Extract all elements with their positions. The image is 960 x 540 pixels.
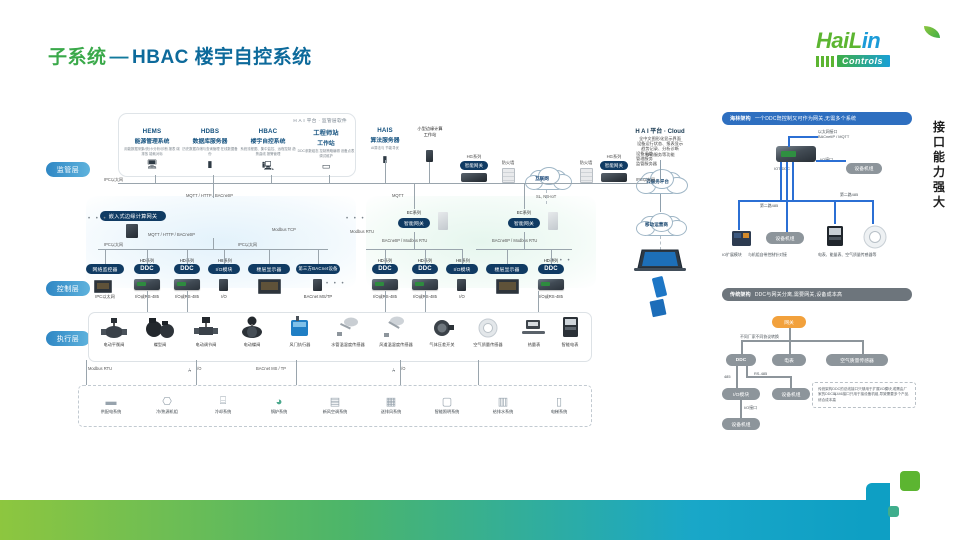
hai-cloud-brand: H A I 平台 · Cloud [612, 126, 708, 135]
legacy-io-port-label: I/O接口 [744, 405, 757, 411]
legacy-meter-node: 电表 [772, 354, 806, 366]
edge-to-bus [213, 238, 214, 249]
cooling-icon: ⌸ [197, 392, 249, 408]
legacy-arch-badge-text: DDC与网关分离,需要网关,设备成本高 [755, 291, 842, 298]
cloud-down-line [660, 194, 661, 212]
ec-left-uplink [414, 183, 415, 209]
ec-left-device [438, 212, 448, 230]
exec-device-8: 空气质量传感器 [466, 316, 510, 348]
title-blue-part: HBAC 楼宇自控系统 [132, 47, 312, 68]
control-node-pill: 第三方BACnet设备 [296, 264, 340, 274]
ops-service-note: 设备运维 管理服务 监管服务器 [636, 152, 676, 166]
hailin-leaf-sensors-label: 电表、能量表、空气质量传感器等 [818, 252, 876, 258]
hailin-logo: HaiLin Controls [816, 30, 932, 76]
control-node-device [258, 279, 281, 294]
control-node-device [219, 279, 228, 291]
edge-uplink [213, 183, 214, 198]
internet-cloud-shape: 互联网 [522, 166, 572, 190]
firewall-left-icon [502, 168, 515, 183]
hailin-wire-trunk-a [780, 162, 782, 200]
exec-device-name: 电动蝶阀 [230, 342, 274, 348]
hailin-leaf-equipment: 设备机组 [766, 232, 804, 244]
boiler-icon: ◕ [253, 392, 305, 408]
legacy-air-node: 空气质量传感器 [826, 354, 888, 366]
card-code: HBAC [239, 128, 297, 135]
subsystem-4: ▤ 新风空调系统 [309, 392, 361, 415]
exec-device-1: 蝶型阀 [138, 316, 182, 348]
drop-3 [224, 249, 225, 264]
card-desc: 系统流程图、集中监控、远程控制 趋势曲线 报警管理 [239, 147, 297, 156]
legacy-equipment-a: 设备机组 [722, 418, 760, 430]
air-quality-sensor-icon [862, 224, 888, 250]
butterfly-valve-icon [230, 316, 274, 340]
card-desc: AI算法与 节能寻优 [356, 146, 414, 151]
exec-device-name: 气体压差开关 [420, 342, 464, 348]
hailin-wire-left-v [738, 200, 740, 230]
pressure-switch-icon [420, 316, 464, 340]
valve-icon [92, 316, 136, 340]
supervisory-card-hdbs: HDBS 数据库服务器 历史数据存储与查询管理 在线数据备份 ▮ [181, 128, 239, 170]
subsystem-0: ▬ 供配电系统 [85, 392, 137, 415]
card-desc: 用能数据采集/统计/分析/诊断 报表 碳排放 能耗对标 [123, 147, 181, 156]
hailin-arch-badge-bold: 海林架构 [730, 115, 751, 122]
vertical-slogan: 接口能力强大 [932, 120, 946, 210]
control-node-sub: I/O [210, 294, 238, 299]
subsystem-name: 锅炉系统 [253, 409, 305, 415]
subsystem-1: ⎔ 冷/热源机组 [141, 392, 193, 415]
layer-badge-control: 控制层 [46, 281, 90, 296]
card-stub-1 [155, 175, 156, 183]
tablet-icon [648, 298, 670, 318]
sys-link-1 [196, 360, 197, 385]
hailin-wire-trunk-c [792, 162, 794, 200]
hailin-equipment-node: 设备机组 [846, 163, 882, 174]
control-node-pill: 网络监控器 [86, 264, 124, 274]
laptop-icon [632, 248, 688, 274]
exec-device-name: 电动平衡阀 [92, 342, 136, 348]
ec-right-series: EC系列 [510, 210, 538, 216]
exec-device-4: 风门执行器 [278, 316, 322, 348]
hailin-wire-right-h [792, 200, 874, 202]
carrier-label: 移动运营商 [645, 222, 668, 228]
exec-device-6: 风道温湿度传感器 [374, 316, 418, 348]
exec-device-name: 风门执行器 [278, 342, 322, 348]
elevator-icon: ▯ [533, 392, 585, 408]
ec-left-uplink-proto: MQTT [392, 193, 404, 198]
drop-0 [105, 249, 106, 264]
card-code: HEMS [123, 128, 181, 135]
ec-left-pill: 智能网关 [398, 218, 430, 228]
ellipsis-control: • • • [326, 281, 346, 287]
card-stub-4 [329, 175, 330, 183]
hailin-wire-up [788, 136, 790, 147]
drop-1 [147, 249, 148, 264]
subsystem-3: ◕ 锅炉系统 [253, 392, 305, 415]
supervisory-card-hbac: HBAC 楼宇自控系统 系统流程图、集中监控、远程控制 趋势曲线 报警管理 🖳 [239, 128, 297, 175]
hailin-wire-trunk-b [786, 162, 788, 214]
ipc-bus-label-right: IPC以太网 [636, 177, 655, 183]
card-name: 数据库服务器 [181, 136, 239, 145]
logo-part-in: in [862, 28, 881, 53]
ball-valve-icon [138, 316, 182, 340]
duct-sensor-icon [374, 316, 418, 340]
exec-device-7: 气体压差开关 [420, 316, 464, 348]
drop-5 [318, 249, 319, 264]
sys-link-4 [478, 360, 479, 385]
layer-badge-supervisory: 监管层 [46, 162, 90, 177]
card-name: 能源管理系统 [123, 136, 181, 145]
drop-4 [269, 249, 270, 264]
control-node-pill: I/O模块 [446, 264, 478, 274]
internet-label: 互联网 [535, 176, 549, 182]
control-node-device [496, 279, 519, 294]
control-bus-label-left: IPC以太网 [104, 242, 123, 248]
iot-ddc-device [776, 146, 816, 162]
legacy-io-module: I/O模块 [722, 388, 760, 400]
drop-7 [425, 249, 426, 264]
small-edge-stub [429, 162, 430, 183]
sys-link-2 [296, 360, 297, 385]
control-node-pill: 楼层显示器 [248, 264, 290, 274]
subsystem-name: 智能照明系统 [421, 409, 473, 415]
workstation-icon: 🖳 [239, 159, 297, 175]
firewall-right-label: 防火墙 [572, 160, 600, 166]
drop-10 [551, 249, 552, 264]
ec-right-downlink-proto: BACnetIP / Modbus RTU [492, 238, 537, 243]
hailin-wire-up-h [788, 136, 818, 138]
exec-device-name: 空气质量传感器 [466, 342, 510, 348]
hailin-bus-right-label: 第二路485 [840, 192, 858, 198]
slide-root: 子系统—HBAC 楼宇自控系统 HaiLin Controls 监管层 控制层 … [0, 0, 960, 540]
firewall-right-icon [580, 168, 593, 183]
wan-gateway-right-pill: 智能网关 [600, 161, 628, 170]
layer-badge-execution: 执行层 [46, 331, 90, 346]
control-node-sub: IPC以太网 [86, 294, 124, 300]
control-node-device [457, 279, 466, 291]
edge-gateway-pill: 嵌入式边缘计算网关 [100, 211, 166, 221]
link-marker-2: ⑃ [392, 368, 398, 374]
legacy-wire-485-down [790, 376, 792, 388]
modbus-rtu-label: Modbus RTU [350, 230, 374, 235]
ec-right-to-bus [524, 232, 525, 249]
wan-gateway-left-pill: 智能网关 [460, 161, 488, 170]
control-bus-left [98, 249, 328, 250]
drop-6 [385, 249, 386, 264]
damper-actuator-icon [278, 316, 322, 340]
subsystem-2: ⌸ 冷却系统 [197, 392, 249, 415]
control-node-device [372, 279, 398, 290]
subsystem-name: 电梯系统 [533, 409, 585, 415]
ahu-icon: ▤ [309, 392, 361, 408]
wan-gateway-left-series: HG系列 [460, 154, 488, 160]
hailin-wire-left-h [738, 200, 794, 202]
air-quality-icon [466, 316, 510, 340]
control-node-device [94, 280, 112, 293]
subsystem-name: 冷却系统 [197, 409, 249, 415]
control-node-sub: I/O [448, 294, 476, 299]
control-node-pill: DDC [412, 264, 438, 274]
control-node-sub: I/O或RS-485 [534, 294, 568, 300]
control-node-pill: 楼层显示器 [486, 264, 528, 274]
energy-meter-icon [824, 224, 848, 250]
control-node-device [538, 279, 564, 290]
subsystem-name: 冷/热源机组 [141, 409, 193, 415]
water-temp-sensor-icon [326, 316, 370, 340]
exec-link-4 [425, 291, 426, 312]
smart-meter-icon [548, 316, 592, 340]
control-bus-right [476, 249, 572, 250]
drop-8 [462, 249, 463, 264]
page-title: 子系统—HBAC 楼宇自控系统 [48, 42, 312, 69]
exec-device-name: 水管温湿度传感器 [326, 342, 370, 348]
edge-protocol-top: MQTT / HTTP / BACnetIP [186, 193, 233, 198]
subsystem-name: 新风空调系统 [309, 409, 361, 415]
ec-left-series: EC系列 [400, 210, 428, 216]
wan-gateway-right-device [601, 173, 627, 182]
laptop-icon: ▭ [297, 161, 355, 172]
subsystem-name: 给排水系统 [477, 409, 529, 415]
sys-link-0 [86, 360, 87, 385]
logo-wordmark: HaiLin [816, 30, 932, 52]
control-node-pill: DDC [538, 264, 564, 274]
wan-gateway-right-series: HG系列 [600, 154, 628, 160]
ellipsis-left: • • • [88, 216, 108, 222]
hailin-arch-badge: 海林架构 一个DDC既控制又可作为网关,无需多个系统 [722, 112, 912, 125]
legacy-arch-badge-bold: 传统架构 [730, 291, 751, 298]
exec-device-name: 智能电表 [548, 342, 592, 348]
title-green-part: 子系统 [48, 47, 107, 68]
control-node-sub: BACnet MS/TP [296, 294, 340, 299]
two-way-valve-icon [184, 316, 228, 340]
control-node-device [174, 279, 200, 290]
control-bus-mid [366, 249, 462, 250]
supervisory-card-engineer: 工程师站 工作站 DDC参数组态 控制策略编辑 设备点表调试维护 ▭ [297, 128, 355, 172]
exec-device-name: 电动调节阀 [184, 342, 228, 348]
wan-gateway-left-device [461, 173, 487, 182]
card-desc: 历史数据存储与查询管理 在线数据备份 [181, 147, 239, 156]
hailin-bus-left-label: 第二路485 [760, 203, 778, 209]
logo-controls-text: Controls [837, 55, 890, 67]
exec-device-5: 水管温湿度传感器 [326, 316, 370, 348]
carrier-cloud-shape: 移动运营商 [632, 212, 688, 236]
card-code: 工程师站 [297, 128, 355, 137]
legacy-wire-485-h [746, 376, 792, 378]
hais-stub [385, 160, 386, 183]
chiller-icon: ⎔ [141, 392, 193, 408]
hailin-wire-right-v2 [872, 200, 874, 224]
exec-device-name: 风道温湿度传感器 [374, 342, 418, 348]
power-icon: ▬ [85, 392, 137, 408]
lighting-icon: ▢ [421, 392, 473, 408]
exec-link-5 [538, 291, 539, 312]
io-expansion-icon [730, 228, 754, 250]
control-bus-label-mid: IPC以太网 [238, 242, 257, 248]
legacy-ddc-node: DDC [726, 354, 756, 366]
card-desc: DDC参数组态 控制策略编辑 设备点表调试维护 [297, 149, 355, 158]
iot-ddc-port-top: 以太网接口 BACnetIP / MQTT [818, 129, 849, 139]
server-icon: ▮ [181, 159, 239, 170]
plumbing-icon: ▥ [477, 392, 529, 408]
control-node-device [412, 279, 438, 290]
card-name: 工作站 [297, 138, 355, 147]
legacy-equipment-b: 设备机组 [772, 388, 810, 400]
legacy-bus-label-2: RS-485 [754, 371, 767, 376]
control-node-device [313, 279, 322, 291]
footer-gradient-bar [0, 500, 866, 540]
exec-device-0: 电动平衡阀 [92, 316, 136, 348]
hailin-wire-equip [786, 214, 788, 232]
exec-link-2 [187, 291, 188, 312]
exec-device-10: 智能电表 [548, 316, 592, 348]
exec-modbus-rtu: Modbus RTU [88, 366, 112, 371]
legacy-arch-badge: 传统架构 DDC与网关分离,需要网关,设备成本高 [722, 288, 912, 301]
monitor-icon: 🖥 [123, 159, 181, 170]
subsystem-7: ▥ 给排水系统 [477, 392, 529, 415]
cloud-stub [660, 160, 661, 183]
subsystem-name: 供配电系统 [85, 409, 137, 415]
control-node-pill: I/O模块 [208, 264, 240, 274]
legacy-wire-ddc-down [736, 366, 738, 388]
card-name: 楼宇自控系统 [239, 136, 297, 145]
hailin-wire-io [816, 160, 846, 162]
card-code: HDBS [181, 128, 239, 135]
footer-accent-square-2 [900, 471, 920, 491]
sys-link-3 [400, 360, 401, 385]
glow-panel-left [86, 196, 356, 288]
control-node-device [134, 279, 160, 290]
control-node-pill: DDC [134, 264, 160, 274]
exec-device-2: 电动调节阀 [184, 316, 228, 348]
ec-left-downlink-proto: BACnetIP / Modbus RTU [382, 238, 427, 243]
exec-device-name: 蝶型阀 [138, 342, 182, 348]
supervisory-card: H A I 平台 · 监管层软件 HEMS 能源管理系统 用能数据采集/统计/分… [118, 113, 356, 177]
drop-2 [187, 249, 188, 264]
smartphone-icon [650, 276, 670, 298]
legacy-wire-root [789, 328, 791, 340]
subsystem-strip: ▬ 供配电系统 ⎔ 冷/热源机组 ⌸ 冷却系统 ◕ 锅炉系统 ▤ 新风空调系统 … [78, 385, 592, 427]
supervisory-card-hems: HEMS 能源管理系统 用能数据采集/统计/分析/诊断 报表 碳排放 能耗对标 … [123, 128, 181, 170]
iot-protocol-line [546, 190, 547, 204]
link-marker-1: ⑃ [188, 368, 194, 374]
hailin-leaf-power-label: IO扩展模块 [722, 252, 742, 258]
exec-link-1 [147, 291, 148, 312]
card-stub-2 [213, 175, 214, 183]
modbus-tcp-label: Modbus TCP [272, 228, 296, 233]
ec-right-uplink [524, 183, 525, 209]
hailin-arch-badge-text: 一个DDC既控制又可作为网关,无需多个系统 [755, 115, 856, 122]
hai-platform-brand: H A I 平台 · 监管层软件 [293, 118, 347, 124]
legacy-note: 传统架构DDC的总线接口只够用于扩展I/O模块,或需由厂家的DDC每446接口只… [812, 382, 916, 408]
footer-accent-square-1 [866, 483, 890, 540]
logo-bars-icon [816, 56, 834, 67]
subsystem-8: ▯ 电梯系统 [533, 392, 585, 415]
card-stub-3 [271, 175, 272, 183]
exec-link-3 [385, 291, 386, 312]
hailin-wire-right-v1 [834, 200, 836, 224]
control-node-pill: DDC [372, 264, 398, 274]
subsystem-6: ▢ 智能照明系统 [421, 392, 473, 415]
edge-gateway-device [126, 224, 138, 238]
footer-accent-square-3 [888, 506, 899, 517]
subsystem-5: ▦ 送排风系统 [365, 392, 417, 415]
legacy-gateway-node: 网关 [772, 316, 806, 328]
hailin-leaf-equipment-note: 与机组自带控制针对接 [748, 252, 787, 258]
exec-bacnet-mstp: BACnet MS / TP [256, 366, 286, 371]
legacy-wire-io-down [740, 400, 742, 418]
ec-right-pill: 智能网关 [508, 218, 540, 228]
legacy-wire-485-up [746, 366, 748, 376]
small-edge-workstation-label: 小型边缘计算 工作站 [404, 126, 456, 138]
logo-subline: Controls [816, 54, 932, 68]
legacy-wire-h [741, 340, 863, 342]
drop-9 [507, 249, 508, 264]
subsystem-name: 送排风系统 [365, 409, 417, 415]
ellipsis-mid: • • • [346, 216, 366, 222]
ipc-backbone-line [118, 183, 648, 184]
fan-icon: ▦ [365, 392, 417, 408]
ec-left-to-bus [414, 232, 415, 249]
logo-part-hail: HaiL [816, 28, 862, 53]
iot-ddc-label: IOT-DDC [774, 166, 790, 171]
ec-right-device [548, 212, 558, 230]
title-dash: — [107, 47, 133, 68]
small-edge-workstation-icon [426, 150, 433, 162]
edge-protocol-mid: MQTT / HTTP / BACnetIP [148, 232, 195, 237]
control-node-pill: DDC [174, 264, 200, 274]
legacy-bus-label: 485 [724, 374, 731, 379]
exec-device-3: 电动蝶阀 [230, 316, 274, 348]
ipc-bus-label: IPC以太网 [104, 177, 123, 183]
firewall-left-label: 防火墙 [494, 160, 522, 166]
